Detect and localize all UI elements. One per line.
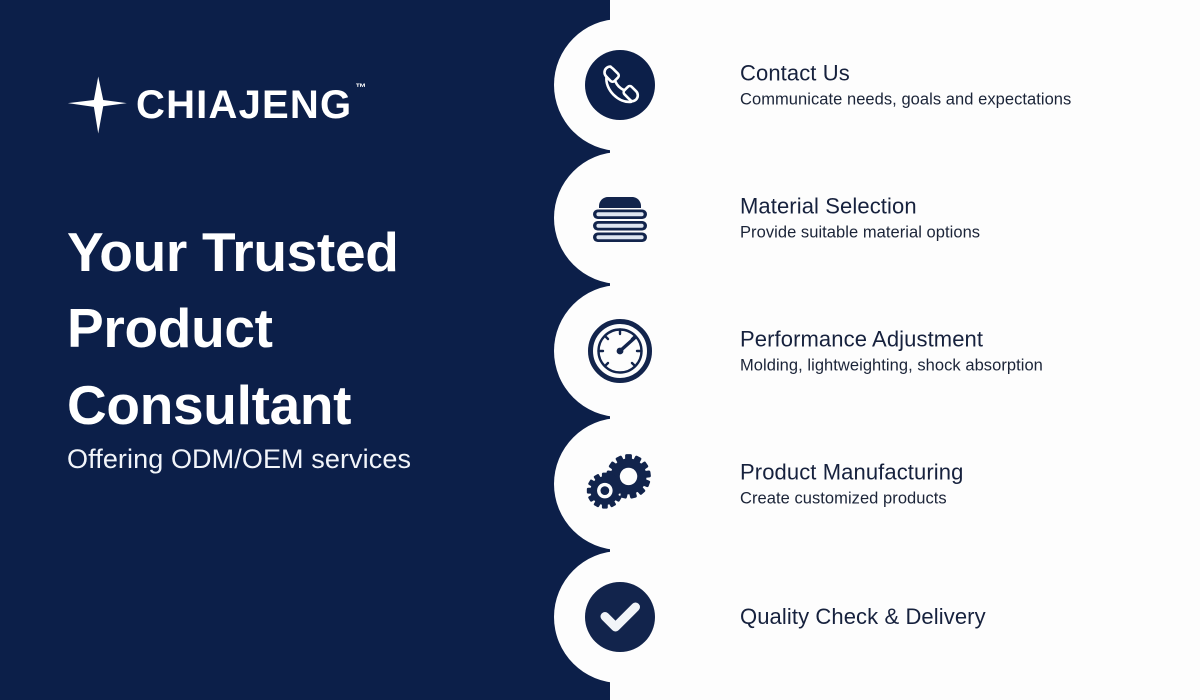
step-title-4: Product Manufacturing	[740, 458, 1190, 486]
headline-line-3: Consultant	[67, 367, 537, 443]
step-icon-slot-5	[584, 581, 656, 653]
gears-icon	[584, 451, 656, 517]
headline-line-2: Product	[67, 290, 537, 366]
step-text-1: Contact Us Communicate needs, goals and …	[740, 59, 1190, 110]
hero-headline: Your Trusted Product Consultant	[67, 214, 537, 443]
step-item-performance-adjustment[interactable]: Performance Adjustment Molding, lightwei…	[620, 285, 1190, 417]
step-desc-2: Provide suitable material options	[740, 221, 1190, 243]
step-item-quality-check-delivery[interactable]: Quality Check & Delivery	[620, 551, 1190, 683]
step-icon-slot-1	[584, 49, 656, 121]
step-item-material-selection[interactable]: Material Selection Provide suitable mate…	[620, 152, 1190, 284]
trademark-symbol: ™	[355, 83, 366, 94]
step-icon-slot-4	[584, 448, 656, 520]
headline-line-1: Your Trusted	[67, 214, 537, 290]
step-text-5: Quality Check & Delivery	[740, 603, 1190, 631]
gauge-icon	[587, 318, 653, 384]
step-title-2: Material Selection	[740, 192, 1190, 220]
step-text-2: Material Selection Provide suitable mate…	[740, 192, 1190, 243]
step-desc-4: Create customized products	[740, 487, 1190, 509]
step-icon-slot-2	[584, 182, 656, 254]
step-text-3: Performance Adjustment Molding, lightwei…	[740, 325, 1190, 376]
hero-subhead: Offering ODM/OEM services	[67, 443, 411, 475]
four-point-star-icon	[66, 74, 128, 136]
promo-banner: CHIAJENG ™ Your Trusted Product Consulta…	[0, 0, 1200, 700]
step-title-5: Quality Check & Delivery	[740, 603, 1190, 631]
check-circle-icon	[584, 581, 656, 653]
step-item-product-manufacturing[interactable]: Product Manufacturing Create customized …	[620, 418, 1190, 550]
brand-name: CHIAJENG	[136, 83, 352, 127]
phone-handset-icon	[584, 49, 656, 121]
step-text-4: Product Manufacturing Create customized …	[740, 458, 1190, 509]
step-title-1: Contact Us	[740, 59, 1190, 87]
brand-name-wrap: CHIAJENG ™	[136, 85, 352, 125]
fabric-stack-icon	[587, 190, 653, 246]
step-icon-slot-3	[584, 315, 656, 387]
step-desc-3: Molding, lightweighting, shock absorptio…	[740, 354, 1190, 376]
brand-logo[interactable]: CHIAJENG ™	[66, 74, 352, 136]
step-desc-1: Communicate needs, goals and expectation…	[740, 88, 1190, 110]
step-item-contact-us[interactable]: Contact Us Communicate needs, goals and …	[620, 19, 1190, 151]
step-title-3: Performance Adjustment	[740, 325, 1190, 353]
